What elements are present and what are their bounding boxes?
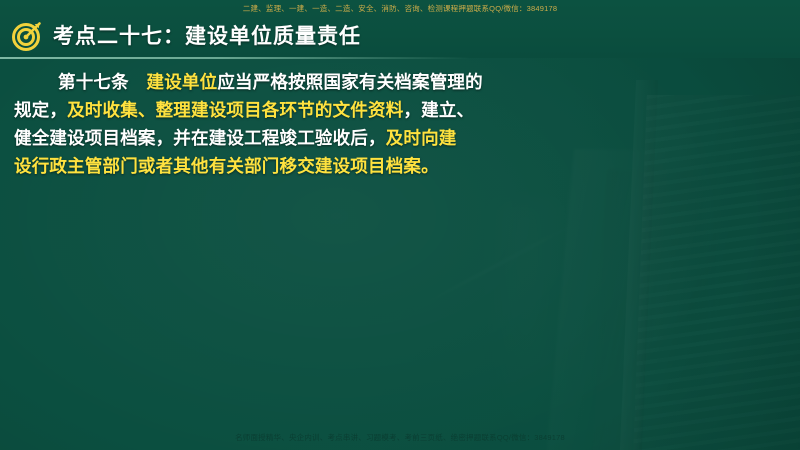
body-line-2-segment-1: 规定， [14,100,67,120]
body-line-4: 设行政主管部门或者其他有关部门移交建设项目档案。 [14,152,580,180]
body-line-3-segment-1: 健全建设项目档案，并在建设工程竣工验收后， [14,128,386,148]
body-line-1-segment-3: 应当严格按照国家有关档案管理的 [217,72,483,92]
body-line-2-segment-3: ，建立、 [403,100,474,120]
slide-header: 二建、监理、一建、一造、二造、安全、消防、咨询、检测课程押题联系QQ/微信：38… [0,0,800,58]
body-line-3: 健全建设项目档案，并在建设工程竣工验收后，及时向建 [14,124,580,152]
header-divider-rule [0,57,470,59]
slide-body-text: 第十七条 建设单位应当严格按照国家有关档案管理的 规定，及时收集、整理建设项目各… [14,68,580,180]
footer-promo-note: 名师面授精华、央企内训、考点串讲、习题模考、考前三页纸、绝密押题联系QQ/微信：… [0,432,800,443]
body-line-1-segment-2: 建设单位 [147,72,218,92]
body-line-1-segment-1: 第十七条 [58,72,147,92]
header-title-row: 考点二十七：建设单位质量责任 [10,18,361,52]
body-line-2-segment-2: 及时收集、整理建设项目各环节的文件资料 [67,100,403,120]
body-line-1: 第十七条 建设单位应当严格按照国家有关档案管理的 [14,68,580,96]
header-promo-note: 二建、监理、一建、一造、二造、安全、消防、咨询、检测课程押题联系QQ/微信：38… [0,3,800,14]
target-bullseye-dart-icon [10,18,44,52]
presentation-slide: 二建、监理、一建、一造、二造、安全、消防、咨询、检测课程押题联系QQ/微信：38… [0,0,800,450]
body-line-3-segment-2: 及时向建 [386,128,457,148]
page-title: 考点二十七：建设单位质量责任 [53,20,361,50]
body-line-4-segment-1: 设行政主管部门或者其他有关部门移交建设项目档案。 [14,156,439,176]
body-line-2: 规定，及时收集、整理建设项目各环节的文件资料，建立、 [14,96,580,124]
